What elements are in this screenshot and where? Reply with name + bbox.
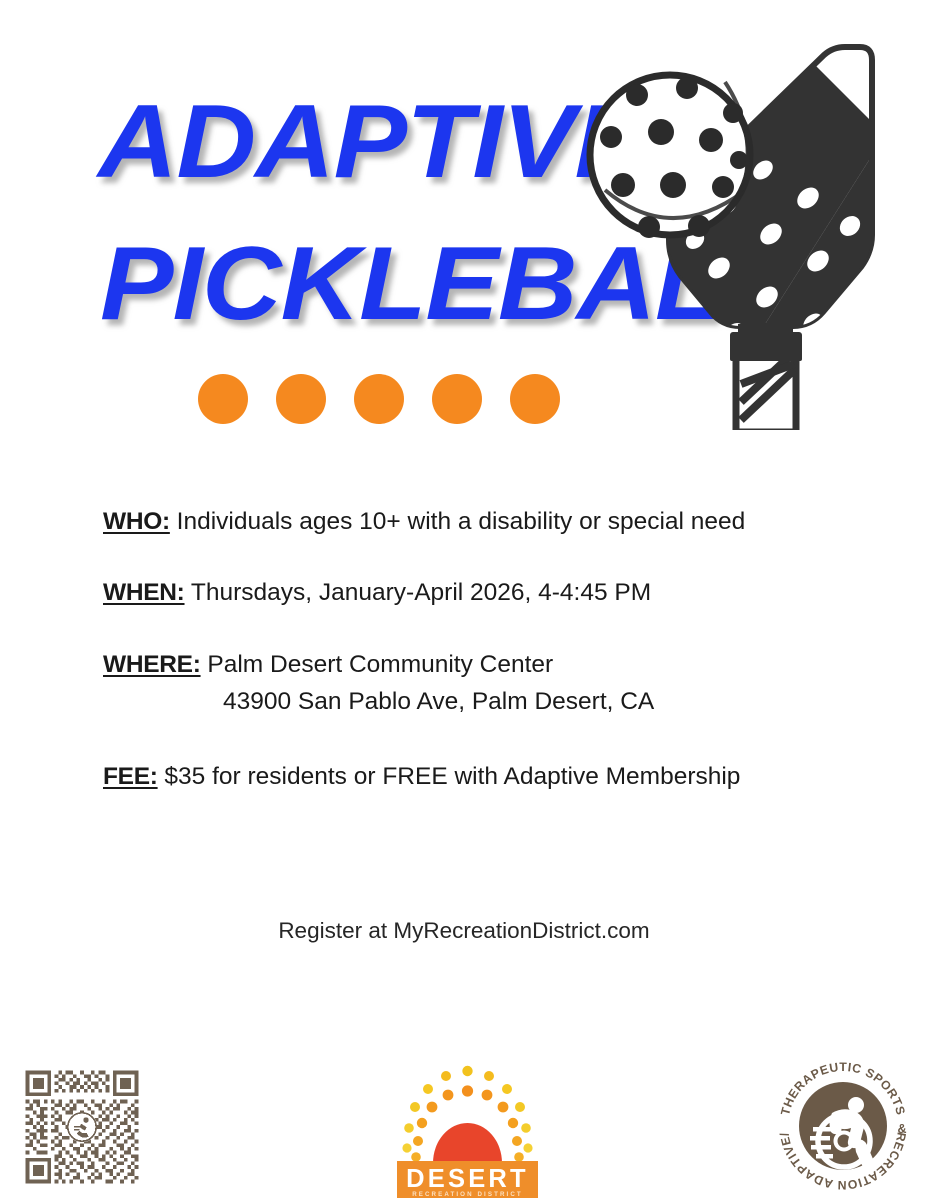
desert-recreation-district-logo: DESERT RECREATION DISTRICT [385, 1063, 550, 1200]
orange-dot [510, 374, 560, 424]
logo-ampersand: & [897, 1122, 906, 1136]
qr-code[interactable] [22, 1067, 142, 1187]
detail-value-when: Thursdays, January-April 2026, 4-4:45 PM [191, 579, 651, 606]
detail-row-when: WHEN: Thursdays, January-April 2026, 4-4… [103, 577, 863, 608]
detail-row-fee: FEE: $35 for residents or FREE with Adap… [103, 761, 863, 792]
orange-dot [432, 374, 482, 424]
pickleball-ball [590, 75, 750, 238]
detail-value-who: Individuals ages 10+ with a disability o… [177, 508, 746, 535]
orange-dot-divider [198, 374, 560, 424]
sun-dome [433, 1123, 502, 1163]
detail-label-where: WHERE: [103, 651, 201, 678]
desert-logo-subtitle: RECREATION DISTRICT [412, 1191, 523, 1198]
detail-label-when: WHEN: [103, 579, 185, 606]
desert-logo-title: DESERT [406, 1165, 529, 1193]
footer-logo-row: DESERT RECREATION DISTRICT THERAPEUTIC S… [0, 1055, 928, 1200]
event-details: WHO: Individuals ages 10+ with a disabil… [103, 506, 863, 793]
detail-label-who: WHO: [103, 508, 170, 535]
orange-dot [354, 374, 404, 424]
detail-value-fee: $35 for residents or FREE with Adaptive … [164, 763, 740, 790]
adaptive-therapeutic-sports-recreation-logo: THERAPEUTIC SPORTS RECREATION ADAPTIVE/ … [772, 1055, 914, 1197]
detail-row-who: WHO: Individuals ages 10+ with a disabil… [103, 506, 863, 537]
detail-row-where: WHERE: Palm Desert Community Center 4390… [103, 649, 863, 718]
detail-value-where-venue: Palm Desert Community Center [207, 651, 553, 678]
paddle-handle [730, 324, 802, 430]
detail-label-fee: FEE: [103, 763, 158, 790]
detail-value-where-address: 43900 San Pablo Ave, Palm Desert, CA [103, 686, 863, 717]
register-line: Register at MyRecreationDistrict.com [0, 918, 928, 944]
orange-dot [198, 374, 248, 424]
page-title-line-1: ADAPTIVE [98, 90, 647, 194]
orange-dot [276, 374, 326, 424]
pickleball-paddle-icon [575, 40, 925, 430]
